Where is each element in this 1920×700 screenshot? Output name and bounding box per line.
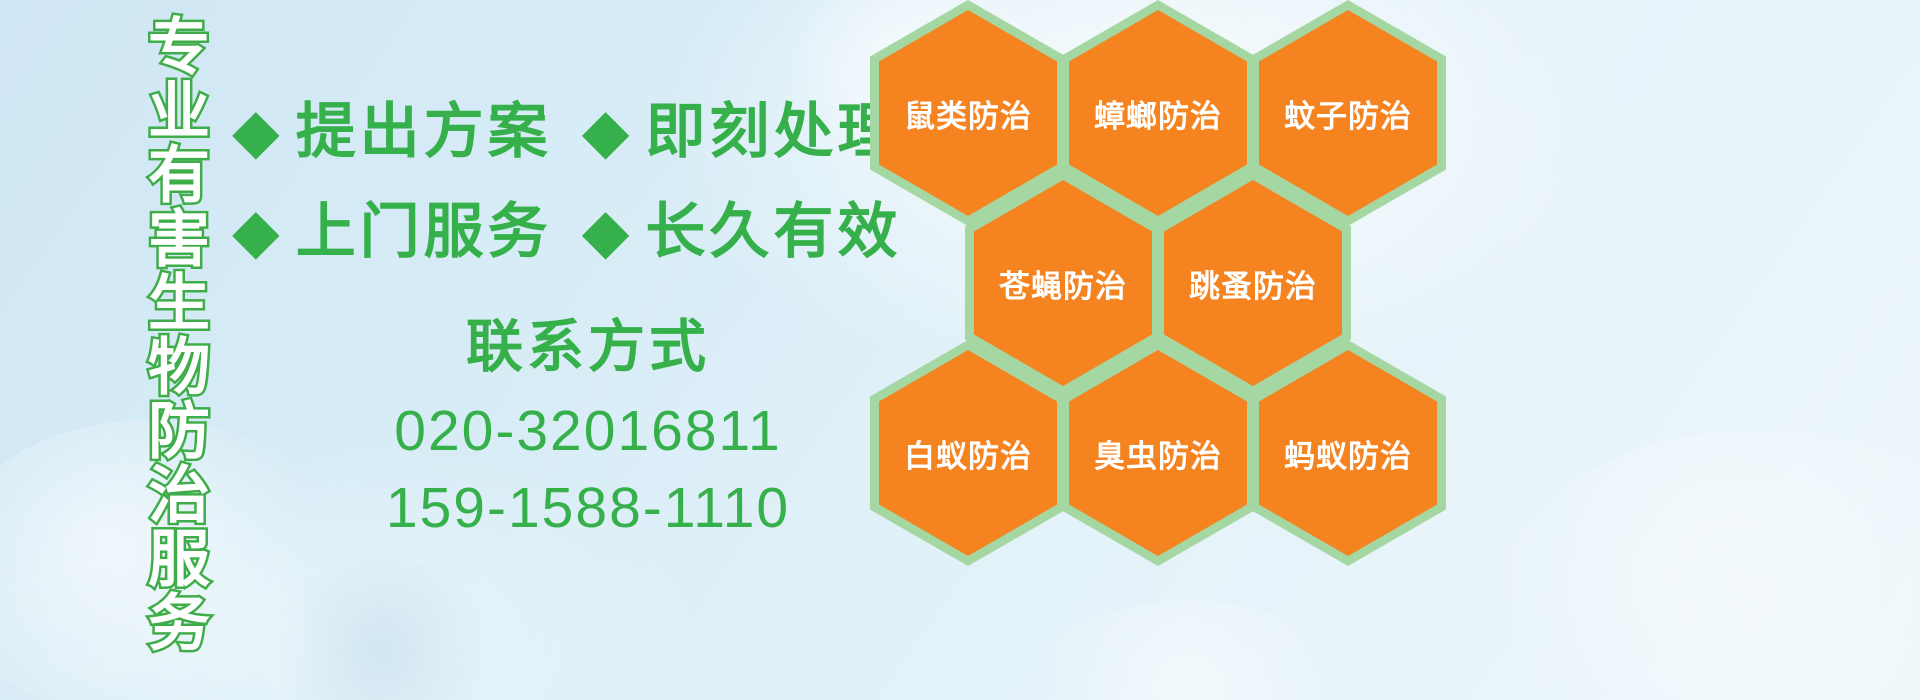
vertical-headline: 专业有害生物防治服务 bbox=[105, 14, 205, 654]
service-label: 臭虫防治 bbox=[1094, 431, 1222, 476]
feature-list: ◆ 提出方案 ◆ 即刻处理 ◆ 上门服务 ◆ 长久有效 bbox=[232, 82, 901, 282]
feature-item: ◆ 上门服务 bbox=[232, 201, 552, 263]
background-blob bbox=[250, 560, 510, 700]
hexagon-inner: 白蚁防治 bbox=[879, 350, 1057, 556]
hexagon-inner: 臭虫防治 bbox=[1069, 350, 1247, 556]
feature-label: 提出方案 bbox=[296, 102, 552, 162]
feature-item: ◆ 提出方案 bbox=[232, 101, 552, 163]
diamond-bullet-icon: ◆ bbox=[582, 101, 630, 163]
feature-item: ◆ 长久有效 bbox=[582, 201, 902, 263]
service-label: 蟑螂防治 bbox=[1094, 91, 1222, 136]
hexagon-inner: 跳蚤防治 bbox=[1164, 180, 1342, 386]
background-blob bbox=[1500, 430, 1920, 700]
feature-item: ◆ 即刻处理 bbox=[582, 101, 902, 163]
contact-title: 联系方式 bbox=[318, 316, 858, 379]
service-label: 蚂蚁防治 bbox=[1284, 431, 1412, 476]
hexagon-inner: 蚊子防治 bbox=[1259, 10, 1437, 216]
phone-number-mobile[interactable]: 159-1588-1110 bbox=[318, 470, 858, 547]
service-hexagon-grid: 鼠类防治 蟑螂防治 蚊子防治 苍蝇防治 跳蚤防治 白蚁防治 bbox=[862, 0, 1462, 700]
diamond-bullet-icon: ◆ bbox=[232, 101, 280, 163]
service-label: 蚊子防治 bbox=[1284, 91, 1412, 136]
feature-row: ◆ 上门服务 ◆ 长久有效 bbox=[232, 182, 901, 282]
phone-number-landline[interactable]: 020-32016811 bbox=[318, 393, 858, 470]
hexagon-inner: 鼠类防治 bbox=[879, 10, 1057, 216]
contact-block: 联系方式 020-32016811 159-1588-1110 bbox=[318, 316, 858, 547]
feature-row: ◆ 提出方案 ◆ 即刻处理 bbox=[232, 82, 901, 182]
diamond-bullet-icon: ◆ bbox=[582, 201, 630, 263]
hexagon-inner: 蚂蚁防治 bbox=[1259, 350, 1437, 556]
hexagon-inner: 蟑螂防治 bbox=[1069, 10, 1247, 216]
diamond-bullet-icon: ◆ bbox=[232, 201, 280, 263]
service-label: 鼠类防治 bbox=[904, 91, 1032, 136]
hexagon-inner: 苍蝇防治 bbox=[974, 180, 1152, 386]
pest-control-banner: 专业有害生物防治服务 ◆ 提出方案 ◆ 即刻处理 ◆ 上门服务 ◆ 长久有效 bbox=[0, 0, 1920, 700]
service-label: 白蚁防治 bbox=[904, 431, 1032, 476]
service-label: 苍蝇防治 bbox=[999, 261, 1127, 306]
service-label: 跳蚤防治 bbox=[1189, 261, 1317, 306]
feature-label: 上门服务 bbox=[296, 202, 552, 262]
